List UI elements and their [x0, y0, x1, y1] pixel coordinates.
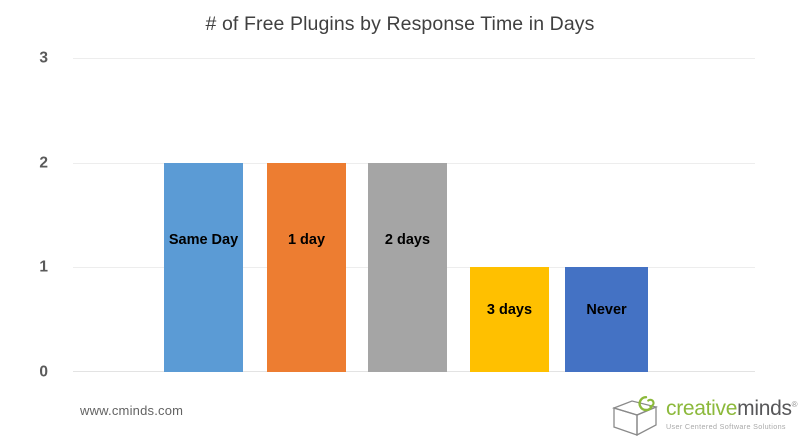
y-axis-tick-1: 1 — [39, 260, 48, 276]
plot-area: Same Day 1 day 2 days 3 days Never — [73, 58, 755, 372]
y-axis-tick-labels: 3 2 1 0 — [0, 58, 73, 372]
logo-word-minds: minds — [737, 397, 792, 420]
logo-word-creative: creative — [666, 397, 737, 420]
site-url-text: www.cminds.com — [80, 403, 183, 418]
bar-label-1-day: 1 day — [267, 232, 346, 248]
bar-same-day[interactable]: Same Day — [164, 163, 243, 372]
y-axis-tick-3: 3 — [39, 50, 48, 66]
logo-text-block: creativeminds® User Centered Software So… — [666, 398, 797, 431]
logo-wordmark: creativeminds® — [666, 398, 797, 419]
chart-title: # of Free Plugins by Response Time in Da… — [0, 13, 800, 36]
bar-label-same-day: Same Day — [164, 232, 243, 248]
bar-never[interactable]: Never — [565, 267, 648, 372]
y-axis-tick-0: 0 — [39, 364, 48, 380]
chart-slide: # of Free Plugins by Response Time in Da… — [0, 0, 800, 442]
logo-tagline: User Centered Software Solutions — [666, 422, 797, 431]
creativeminds-logo: creativeminds® User Centered Software So… — [610, 388, 795, 436]
bar-2-days[interactable]: 2 days — [368, 163, 447, 372]
bar-label-never: Never — [565, 302, 648, 318]
y-axis-tick-2: 2 — [39, 155, 48, 171]
bar-series: Same Day 1 day 2 days 3 days Never — [73, 58, 755, 372]
bar-1-day[interactable]: 1 day — [267, 163, 346, 372]
bar-label-3-days: 3 days — [470, 302, 549, 318]
bar-3-days[interactable]: 3 days — [470, 267, 549, 372]
cube-icon — [610, 394, 662, 436]
bar-label-2-days: 2 days — [368, 232, 447, 248]
logo-trademark-icon: ® — [792, 400, 798, 409]
